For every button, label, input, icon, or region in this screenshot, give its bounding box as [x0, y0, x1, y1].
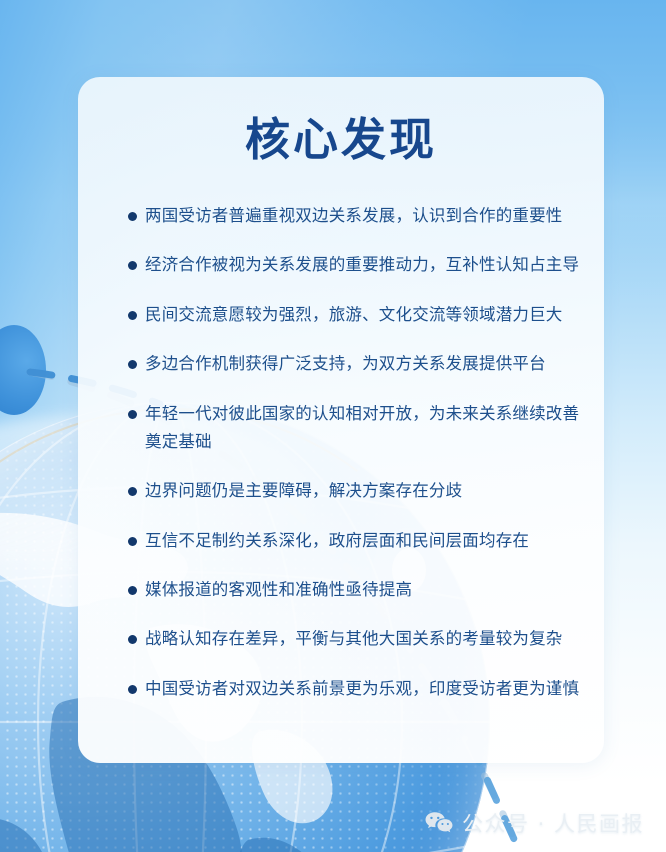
findings-card: 核心发现 两国受访者普遍重视双边关系发展，认识到合作的重要性 经济合作被视为关系… [78, 77, 604, 763]
findings-list: 两国受访者普遍重视双边关系发展，认识到合作的重要性 经济合作被视为关系发展的重要… [128, 202, 582, 703]
bullet-dot-icon [128, 586, 137, 595]
finding-text: 战略认知存在差异，平衡与其他大国关系的考量较为复杂 [145, 625, 582, 653]
finding-text: 中国受访者对双边关系前景更为乐观，印度受访者更为谨慎 [145, 675, 582, 703]
finding-text: 互信不足制约关系深化，政府层面和民间层面均存在 [145, 527, 582, 555]
list-item: 两国受访者普遍重视双边关系发展，认识到合作的重要性 [128, 202, 582, 230]
bullet-dot-icon [128, 261, 137, 270]
bullet-dot-icon [128, 537, 137, 546]
bullet-dot-icon [128, 360, 137, 369]
finding-text: 媒体报道的客观性和准确性亟待提高 [145, 576, 582, 604]
bullet-dot-icon [128, 212, 137, 221]
watermark-text: 公众号 · 人民画报 [462, 808, 644, 838]
watermark: 公众号 · 人民画报 [425, 808, 644, 838]
finding-text: 两国受访者普遍重视双边关系发展，认识到合作的重要性 [145, 202, 582, 230]
finding-text: 边界问题仍是主要障碍，解决方案存在分歧 [145, 477, 582, 505]
bullet-dot-icon [128, 635, 137, 644]
list-item: 民间交流意愿较为强烈，旅游、文化交流等领域潜力巨大 [128, 301, 582, 329]
finding-text: 年轻一代对彼此国家的认知相对开放，为未来关系继续改善奠定基础 [145, 400, 582, 457]
bullet-dot-icon [128, 685, 137, 694]
finding-text: 经济合作被视为关系发展的重要推动力，互补性认知占主导 [145, 251, 582, 279]
list-item: 互信不足制约关系深化，政府层面和民间层面均存在 [128, 527, 582, 555]
bullet-dot-icon [128, 410, 137, 419]
list-item: 中国受访者对双边关系前景更为乐观，印度受访者更为谨慎 [128, 675, 582, 703]
list-item: 年轻一代对彼此国家的认知相对开放，为未来关系继续改善奠定基础 [128, 400, 582, 457]
list-item: 边界问题仍是主要障碍，解决方案存在分歧 [128, 477, 582, 505]
finding-text: 多边合作机制获得广泛支持，为双方关系发展提供平台 [145, 350, 582, 378]
finding-text: 民间交流意愿较为强烈，旅游、文化交流等领域潜力巨大 [145, 301, 582, 329]
list-item: 战略认知存在差异，平衡与其他大国关系的考量较为复杂 [128, 625, 582, 653]
page-title: 核心发现 [78, 117, 604, 162]
wechat-icon [425, 811, 453, 835]
bullet-dot-icon [128, 311, 137, 320]
bullet-dot-icon [128, 487, 137, 496]
list-item: 经济合作被视为关系发展的重要推动力，互补性认知占主导 [128, 251, 582, 279]
list-item: 媒体报道的客观性和准确性亟待提高 [128, 576, 582, 604]
list-item: 多边合作机制获得广泛支持，为双方关系发展提供平台 [128, 350, 582, 378]
poster-canvas: 核心发现 两国受访者普遍重视双边关系发展，认识到合作的重要性 经济合作被视为关系… [0, 0, 666, 852]
